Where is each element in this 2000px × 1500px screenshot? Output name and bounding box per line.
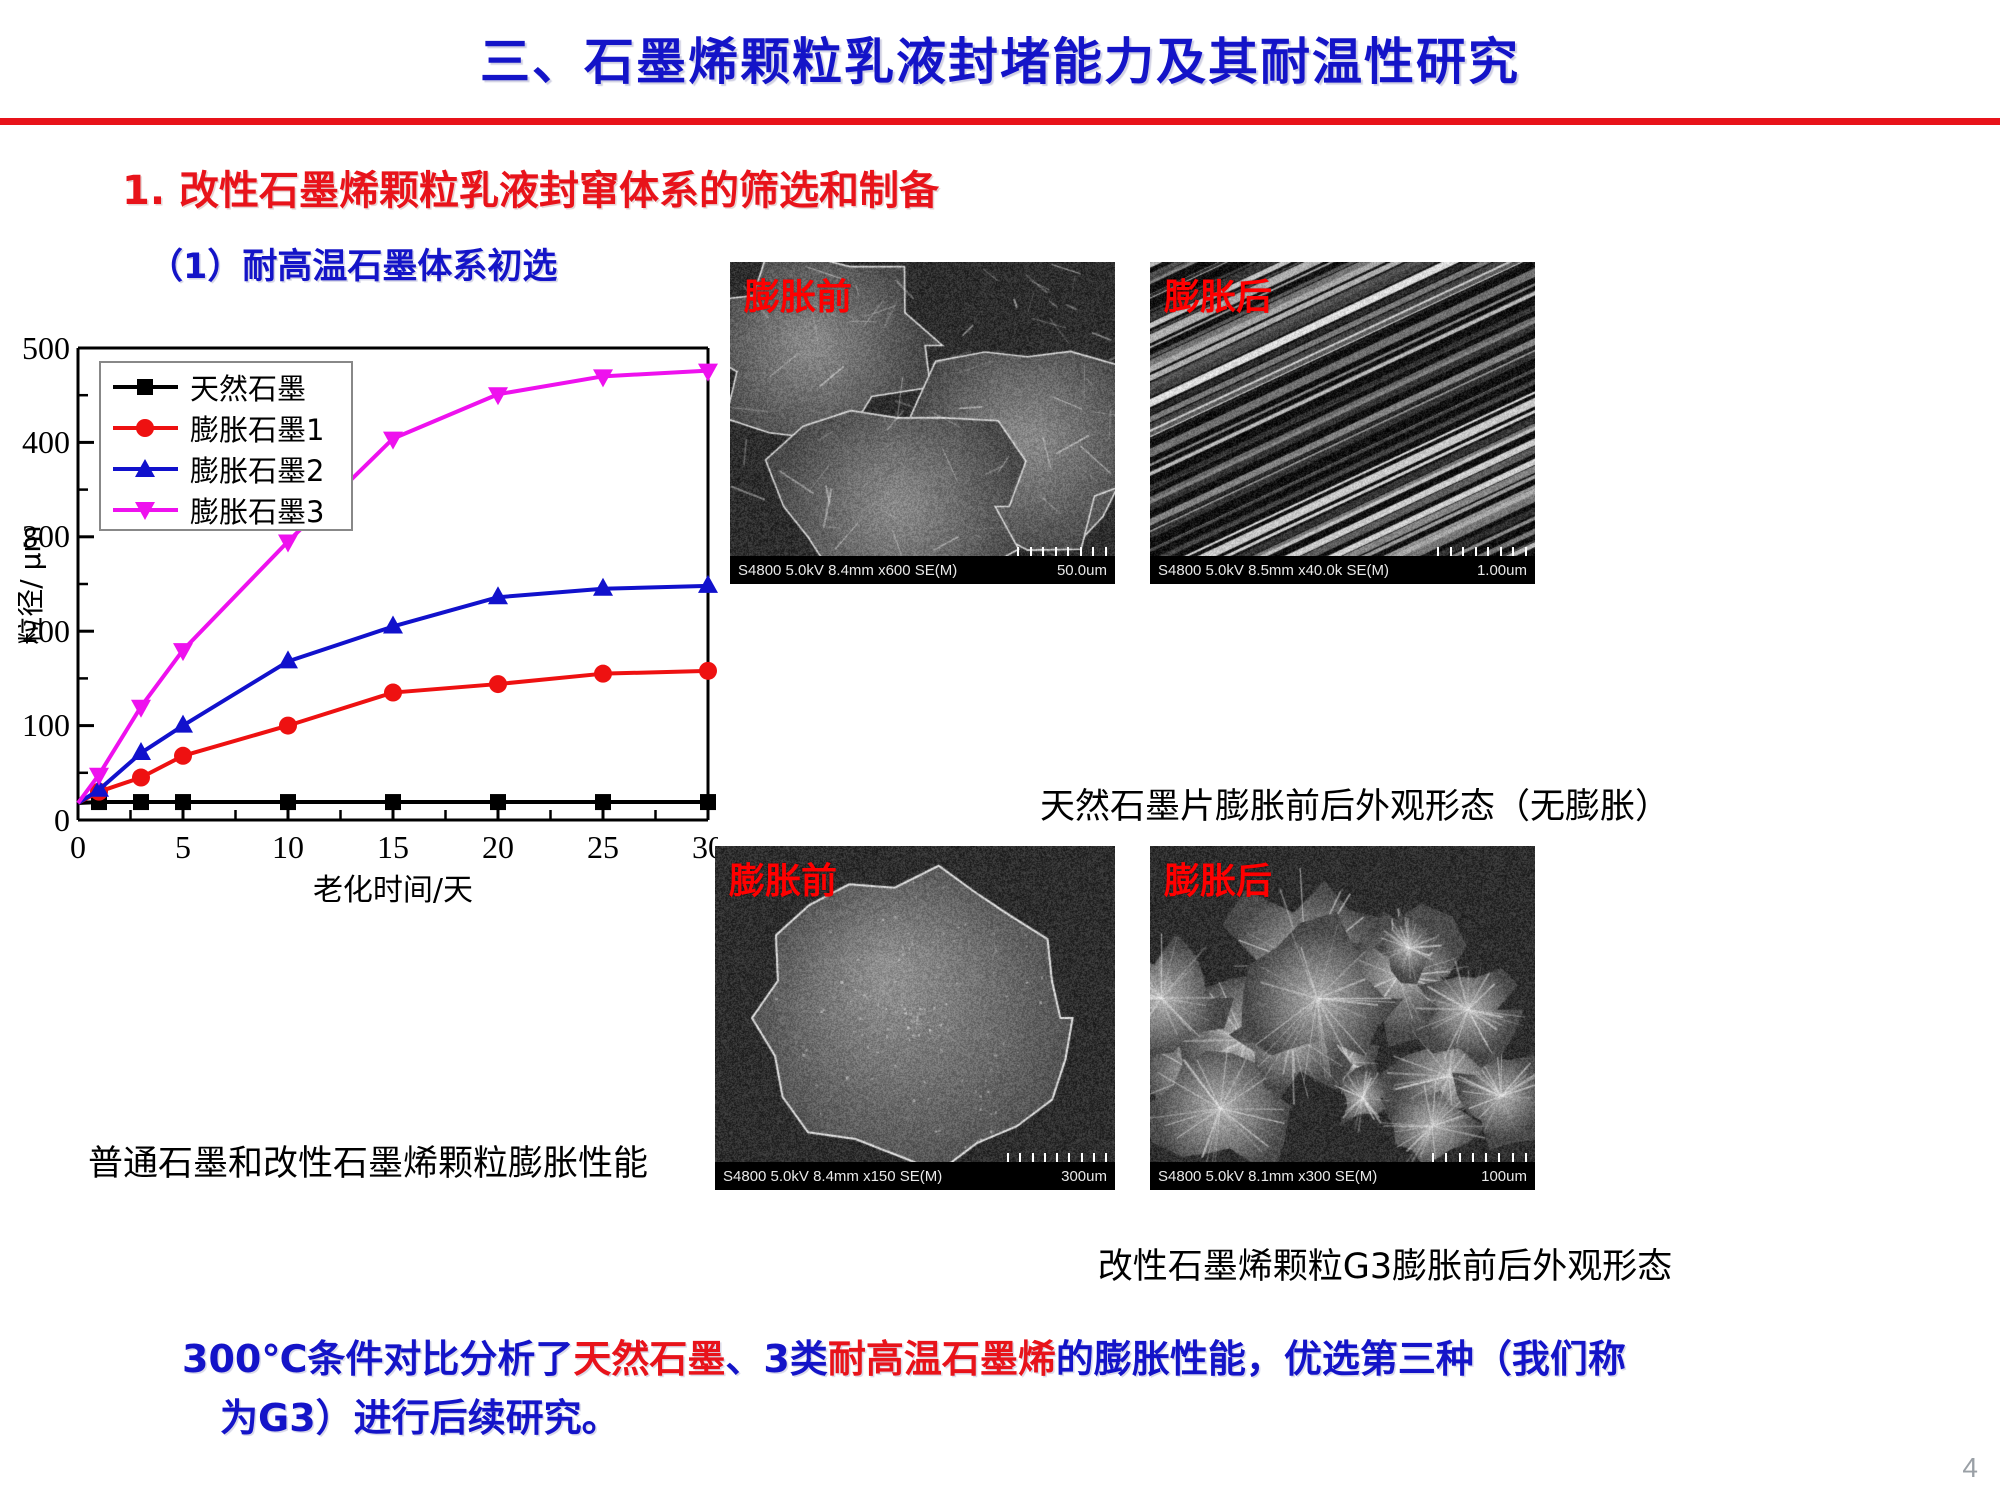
- section-heading: 1. 改性石墨烯颗粒乳液封窜体系的筛选和制备: [122, 158, 939, 216]
- sem-overlay-label: 膨胀前: [729, 852, 837, 904]
- data-point: [279, 717, 297, 735]
- x-tick-label: 10: [272, 829, 304, 865]
- data-point: [698, 575, 718, 593]
- data-point: [174, 747, 192, 765]
- sem-infobar: S4800 5.0kV 8.4mm x150 SE(M) 300um: [715, 1162, 1115, 1190]
- x-tick-label: 5: [175, 829, 191, 865]
- summary-part-5: 的膨胀性能，优选第三种（我们称: [1056, 1337, 1626, 1381]
- data-point: [133, 794, 149, 810]
- sem-scalebar: [1437, 547, 1527, 556]
- data-point: [280, 794, 296, 810]
- sem-row1-caption: 天然石墨片膨胀前后外观形态（无膨胀）: [730, 778, 1980, 829]
- x-tick-label: 25: [587, 829, 619, 865]
- summary-text: 300℃条件对比分析了天然石墨、3类耐高温石墨烯的膨胀性能，优选第三种（我们称 …: [182, 1330, 1882, 1448]
- chart-svg: 0 100 200 300 400 500 0 5 10: [18, 330, 718, 930]
- sem-overlay-label: 膨胀前: [744, 268, 852, 320]
- data-point: [175, 794, 191, 810]
- data-point: [699, 662, 717, 680]
- chart-legend: 天然石墨 膨胀石墨1 膨胀石墨2 膨胀石墨3: [100, 362, 352, 530]
- y-tick-label: 400: [22, 424, 70, 460]
- x-tick-label: 15: [377, 829, 409, 865]
- data-point: [131, 742, 151, 760]
- x-axis-ticks: 0 5 10 15 20 25 30: [70, 804, 718, 865]
- sem-scale-text: 1.00um: [1477, 562, 1527, 579]
- data-point: [132, 769, 150, 787]
- legend-label: 膨胀石墨1: [190, 413, 324, 447]
- x-tick-label: 0: [70, 829, 86, 865]
- sem-scale-text: 100um: [1481, 1168, 1527, 1185]
- x-tick-label: 20: [482, 829, 514, 865]
- sem-scale-text: 50.0um: [1057, 562, 1107, 579]
- sem-image-natural-graphite-after: 膨胀后 S4800 5.0kV 8.5mm x40.0k SE(M) 1.00u…: [1150, 262, 1535, 584]
- legend-label: 天然石墨: [190, 372, 306, 406]
- data-point: [595, 794, 611, 810]
- summary-highlight-1: 天然石墨: [573, 1337, 725, 1381]
- data-point: [490, 794, 506, 810]
- data-point: [594, 665, 612, 683]
- data-point: [700, 794, 716, 810]
- sem-scalebar: [1432, 1153, 1527, 1162]
- expansion-line-chart: 0 100 200 300 400 500 0 5 10: [18, 330, 718, 930]
- title-divider: [0, 118, 2000, 125]
- summary-highlight-2: 耐高温石墨烯: [828, 1337, 1056, 1381]
- sem-info-text: S4800 5.0kV 8.5mm x40.0k SE(M): [1158, 562, 1389, 579]
- legend-label: 膨胀石墨3: [190, 495, 324, 529]
- summary-part-1: 300℃条件对比分析了: [182, 1337, 573, 1381]
- sem-overlay-label: 膨胀后: [1164, 852, 1272, 904]
- y-axis-title: 粒径/ μm: [18, 525, 47, 644]
- sem-info-text: S4800 5.0kV 8.1mm x300 SE(M): [1158, 1168, 1377, 1185]
- sem-info-text: S4800 5.0kV 8.4mm x150 SE(M): [723, 1168, 942, 1185]
- sem-scalebar: [1007, 1153, 1107, 1162]
- y-tick-label: 0: [54, 802, 70, 838]
- summary-line-2: 为G3）进行后续研究。: [220, 1389, 1882, 1448]
- chart-caption: 普通石墨和改性石墨烯颗粒膨胀性能: [18, 1135, 718, 1186]
- page-title: 三、石墨烯颗粒乳液封堵能力及其耐温性研究: [0, 22, 2000, 94]
- sem-image-g3-after: 膨胀后 S4800 5.0kV 8.1mm x300 SE(M) 100um: [1150, 846, 1535, 1190]
- subsection-heading: （1）耐高温石墨体系初选: [148, 238, 557, 289]
- sem-image-natural-graphite-before: 膨胀前 S4800 5.0kV 8.4mm x600 SE(M) 50.0um: [730, 262, 1115, 584]
- sem-infobar: S4800 5.0kV 8.4mm x600 SE(M) 50.0um: [730, 556, 1115, 584]
- data-point: [489, 675, 507, 693]
- sem-overlay-label: 膨胀后: [1164, 268, 1272, 320]
- data-point: [385, 794, 401, 810]
- x-axis-title: 老化时间/天: [313, 873, 473, 908]
- page-number: 4: [1962, 1452, 1978, 1484]
- sem-image-g3-before: 膨胀前 S4800 5.0kV 8.4mm x150 SE(M) 300um: [715, 846, 1115, 1190]
- sem-scale-text: 300um: [1061, 1168, 1107, 1185]
- legend-label: 膨胀石墨2: [190, 454, 324, 488]
- summary-part-3: 、3类: [725, 1337, 827, 1381]
- sem-infobar: S4800 5.0kV 8.1mm x300 SE(M) 100um: [1150, 1162, 1535, 1190]
- sem-scalebar: [1017, 547, 1107, 556]
- y-tick-label: 100: [22, 707, 70, 743]
- chart-series-0: [78, 794, 716, 810]
- sem-infobar: S4800 5.0kV 8.5mm x40.0k SE(M) 1.00um: [1150, 556, 1535, 584]
- data-point: [384, 684, 402, 702]
- sem-info-text: S4800 5.0kV 8.4mm x600 SE(M): [738, 562, 957, 579]
- y-tick-label: 500: [22, 330, 70, 366]
- sem-row2-caption: 改性石墨烯颗粒G3膨胀前后外观形态: [760, 1238, 2000, 1289]
